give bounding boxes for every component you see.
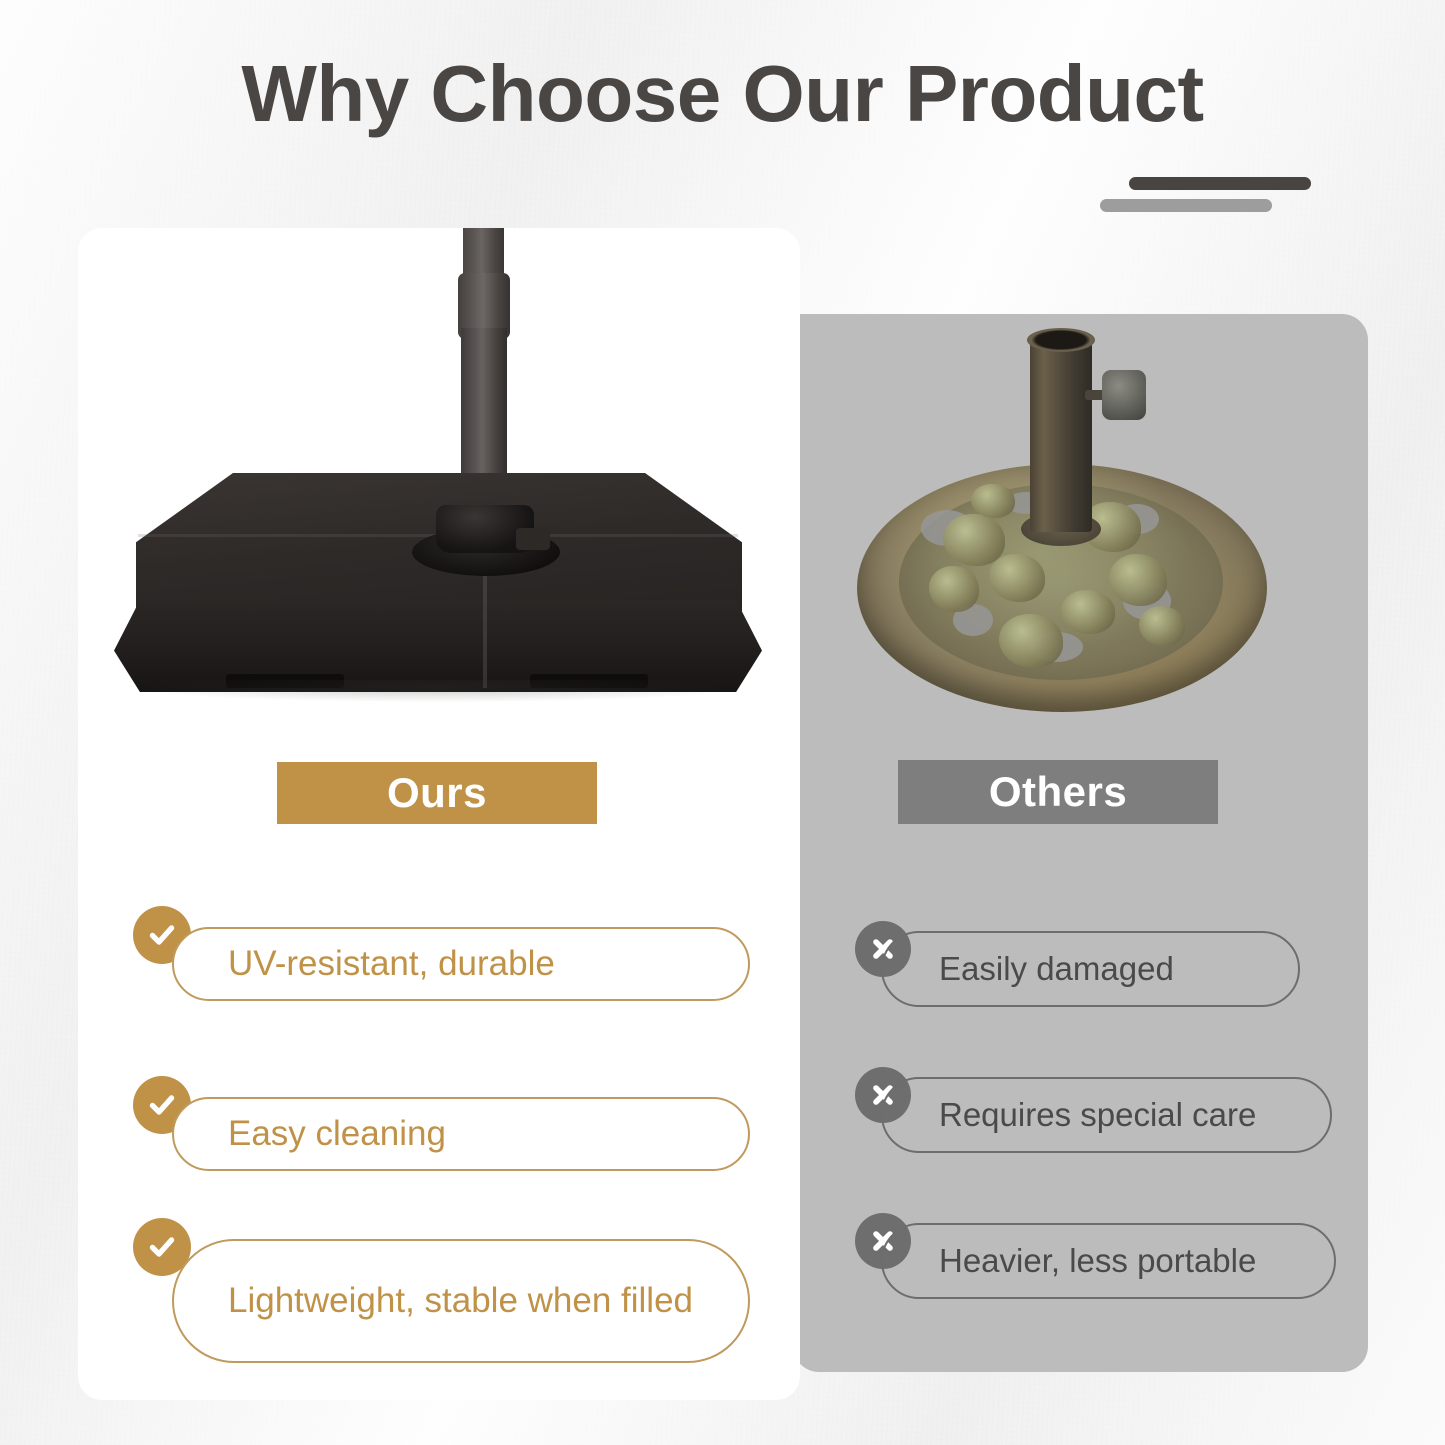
floral-relief — [999, 614, 1063, 668]
floral-relief — [929, 566, 979, 612]
others-feature-label: Requires special care — [939, 1094, 1256, 1136]
resin-base-front — [114, 600, 762, 692]
base-hub-notch — [516, 528, 550, 550]
others-feature-item: Heavier, less portable — [881, 1223, 1336, 1299]
ours-product-image — [78, 228, 800, 728]
ours-feature-label: Lightweight, stable when filled — [228, 1279, 693, 1323]
floral-relief — [1109, 554, 1167, 606]
ours-feature-item: Easy cleaning — [172, 1097, 750, 1171]
page-title: Why Choose Our Product — [0, 46, 1445, 142]
divider-bar-light-icon — [1100, 199, 1272, 212]
floral-relief — [1061, 590, 1115, 634]
tightening-knob — [1102, 370, 1146, 420]
ours-feature-item: Lightweight, stable when filled — [172, 1239, 750, 1363]
others-feature-item: Easily damaged — [881, 931, 1300, 1007]
floral-relief — [1139, 606, 1185, 646]
divider-bar-dark-icon — [1129, 177, 1311, 190]
ours-feature-item: UV-resistant, durable — [172, 927, 750, 1001]
others-feature-item: Requires special care — [881, 1077, 1332, 1153]
others-product-image — [793, 314, 1368, 744]
floral-relief — [989, 554, 1045, 602]
floral-relief — [943, 514, 1005, 566]
ours-label: Ours — [277, 762, 597, 824]
product-shadow — [138, 680, 738, 702]
tube-opening — [1027, 328, 1095, 352]
floral-relief — [971, 484, 1015, 518]
others-feature-label: Heavier, less portable — [939, 1240, 1256, 1282]
others-label: Others — [898, 760, 1218, 824]
comparison-infographic: Why Choose Our Product — [0, 0, 1445, 1445]
others-panel: Others Easily damaged Requires special c… — [793, 314, 1368, 1372]
ours-feature-label: Easy cleaning — [228, 1112, 446, 1156]
ours-panel: Ours UV-resistant, durable Easy cleaning — [78, 228, 800, 1400]
others-feature-label: Easily damaged — [939, 948, 1174, 990]
iron-tube — [1030, 336, 1092, 532]
ours-feature-label: UV-resistant, durable — [228, 942, 555, 986]
